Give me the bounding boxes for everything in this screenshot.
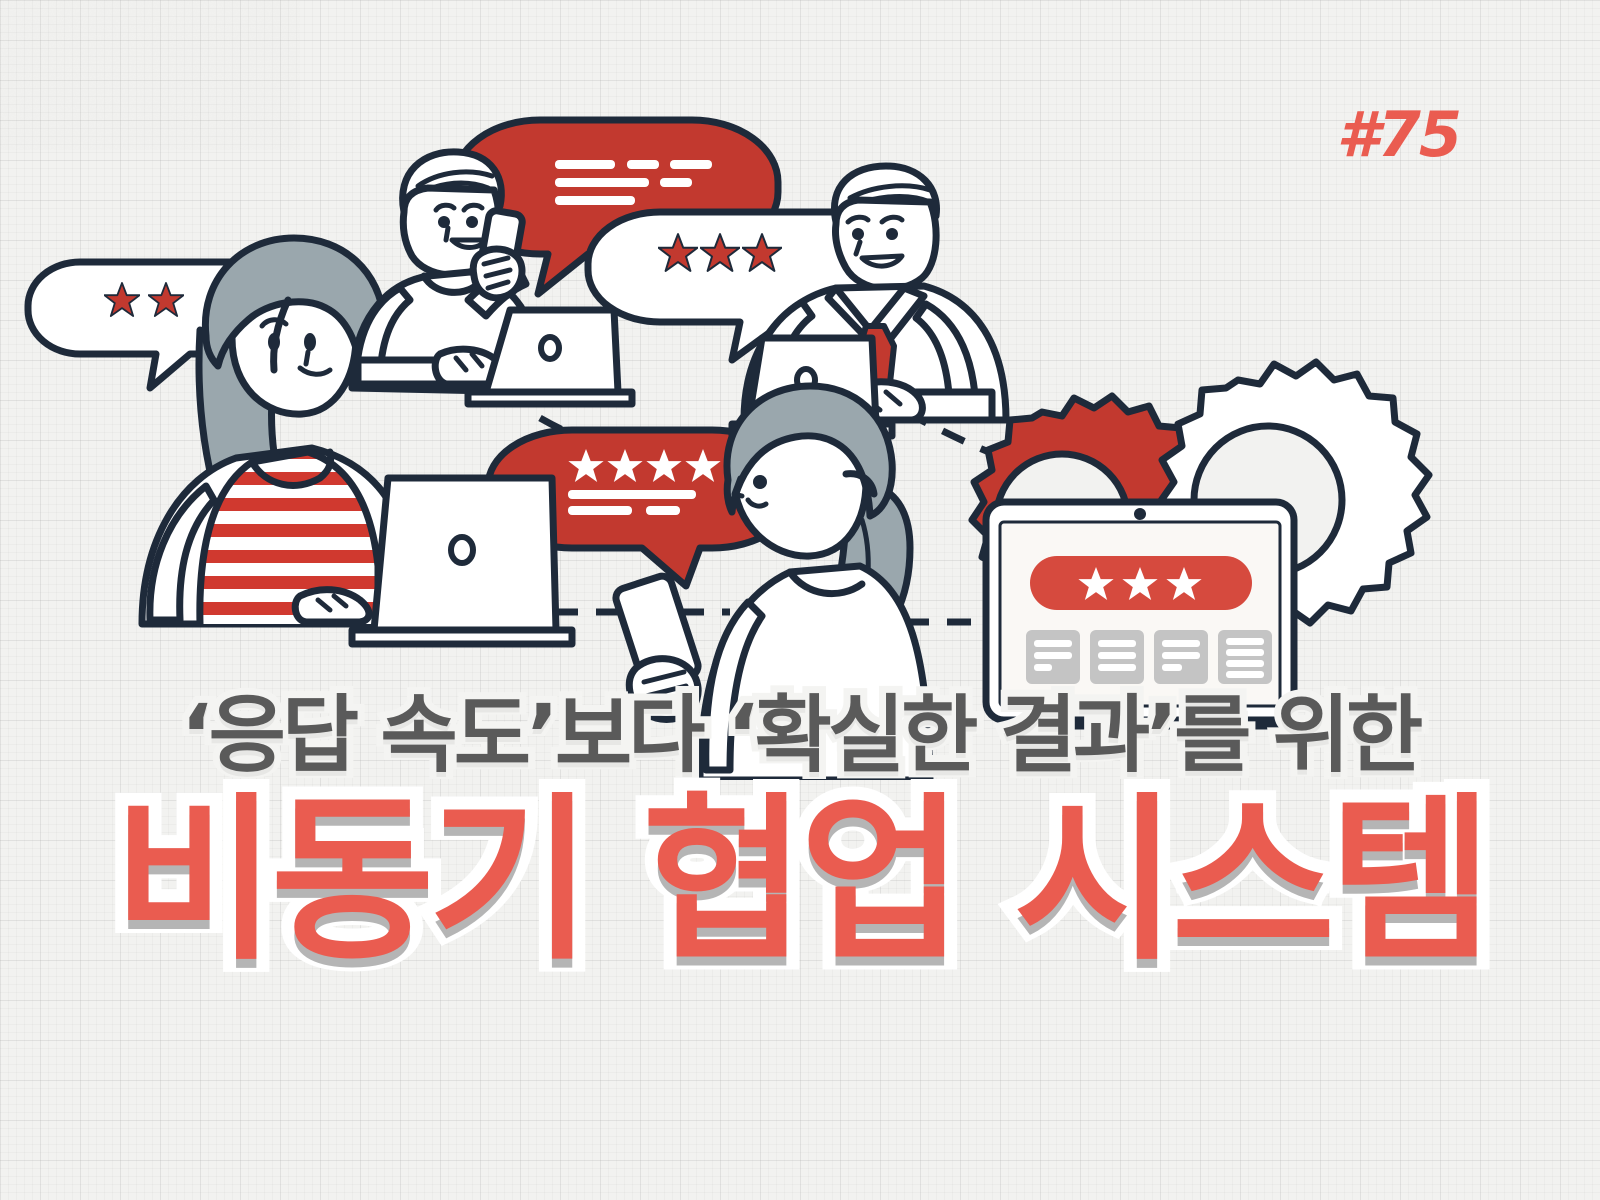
subtitle-text: ‘응답 속도’보다 ‘확실한 결과’를 위한 — [0, 690, 1600, 781]
laptop-left — [352, 478, 572, 644]
poster-canvas: #75 .ln{fill:none;stroke:#1e2a3a;stroke-… — [0, 0, 1600, 1200]
headline-block: ‘응답 속도’보다 ‘확실한 결과’를 위한 비동기 협업 시스템 — [0, 690, 1600, 975]
main-title-text: 비동기 협업 시스템 — [0, 787, 1600, 976]
tablet-rating-pill — [1030, 556, 1252, 610]
issue-number-badge: #75 — [1337, 98, 1460, 171]
